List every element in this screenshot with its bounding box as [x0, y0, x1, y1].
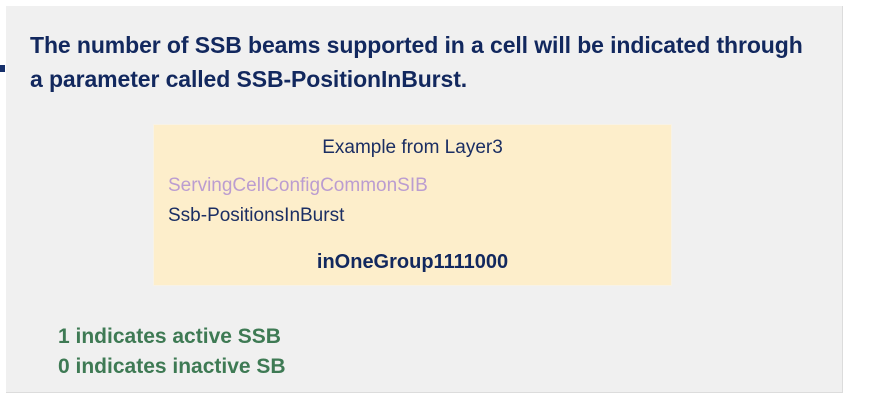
headline-line-1: The number of SSB beams supported in a c…	[30, 28, 830, 62]
slide-headline: The number of SSB beams supported in a c…	[30, 28, 830, 96]
slide-root: The number of SSB beams supported in a c…	[0, 0, 879, 412]
legend-active-ssb: 1 indicates active SSB	[58, 322, 286, 352]
example-ie-name: ServingCellConfigCommonSIB	[168, 175, 428, 197]
headline-line-2: a parameter called SSB-PositionInBurst.	[30, 62, 830, 96]
legend-inactive-ssb: 0 indicates inactive SB	[58, 352, 286, 382]
legend-block: 1 indicates active SSB 0 indicates inact…	[58, 322, 286, 382]
example-callout-box: Example from Layer3 ServingCellConfigCom…	[153, 124, 672, 286]
example-field-value: inOneGroup1111000	[154, 251, 671, 274]
example-field-name: Ssb-PositionsInBurst	[168, 205, 344, 227]
slide-content-panel: The number of SSB beams supported in a c…	[6, 6, 843, 393]
example-box-title: Example from Layer3	[154, 137, 671, 159]
left-edge-bullet-marker	[0, 65, 5, 72]
